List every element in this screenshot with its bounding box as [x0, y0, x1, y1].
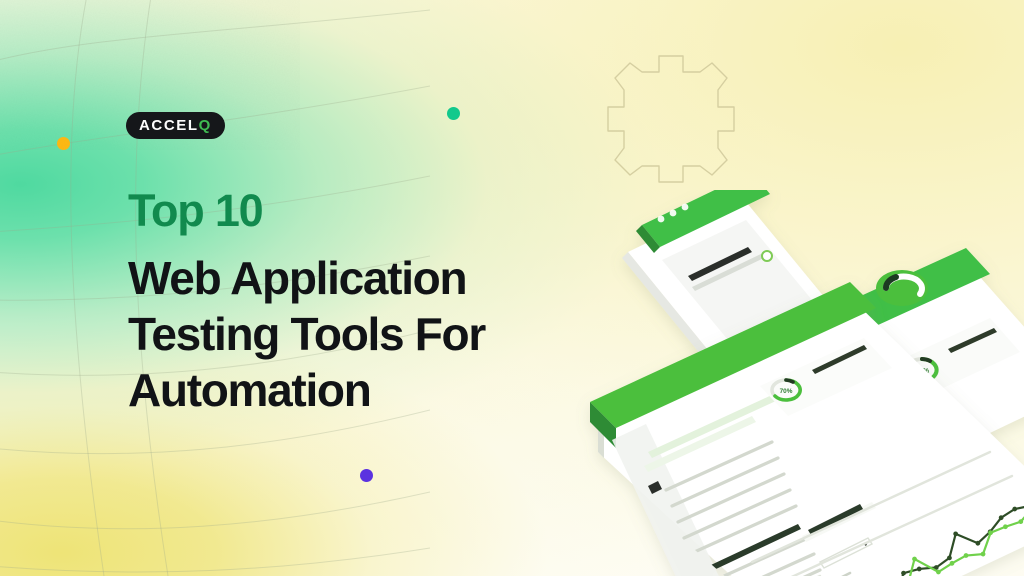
slider-handle [762, 251, 772, 261]
titlebar-dot [670, 210, 677, 217]
purple-dot [360, 469, 373, 482]
amber-dot [57, 137, 70, 150]
titlebar-dot [682, 204, 689, 211]
titlebar-dot [658, 216, 665, 223]
teal-dot [447, 107, 460, 120]
isometric-dashboard-illustration: 80% [520, 190, 1024, 576]
logo-text-main: ACCEL [139, 117, 199, 134]
banner-canvas: ACCELQ Top 10 Web Application Testing To… [0, 0, 1024, 576]
eyebrow-label: Top 10 [128, 188, 262, 233]
accelq-logo[interactable]: ACCELQ [126, 112, 225, 139]
header-donut-icon [876, 270, 928, 306]
logo-wordmark: ACCELQ [139, 118, 212, 133]
ring-badge-70-label: 70% [780, 388, 793, 395]
gear-outline-icon [586, 52, 756, 212]
logo-text-accent: Q [199, 117, 212, 134]
